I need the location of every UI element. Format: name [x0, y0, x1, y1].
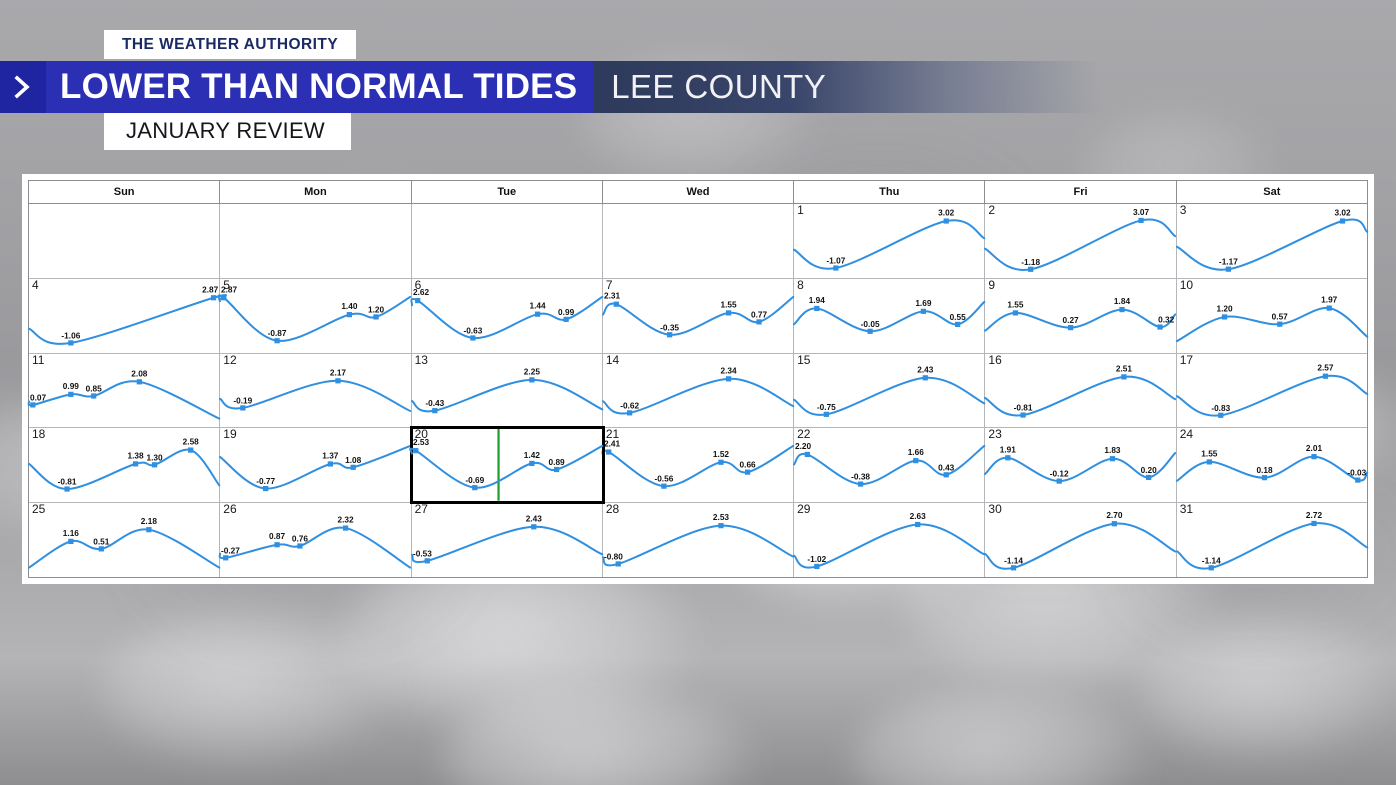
- tide-curve-line: [219, 295, 411, 341]
- tide-curve-line: [602, 446, 793, 486]
- calendar-day-cell-15[interactable]: 15-0.752.43: [794, 354, 985, 428]
- calendar-week-row: 251.160.512.1826-0.270.870.762.3227-0.53…: [29, 503, 1367, 577]
- tide-value-label: -0.56: [654, 475, 673, 484]
- page-title: LOWER THAN NORMAL TIDES: [60, 69, 577, 105]
- tide-extreme-marker: [615, 562, 620, 567]
- tide-value-label: 0.27: [1063, 316, 1080, 325]
- tide-value-label: 2.63: [910, 512, 927, 521]
- tide-extreme-marker: [805, 452, 810, 457]
- tide-extreme-marker: [1262, 475, 1267, 480]
- tide-extreme-marker: [424, 558, 429, 563]
- tide-curve-chart-day-9: 1.550.271.840.32: [985, 279, 1175, 353]
- tide-extreme-marker: [923, 375, 928, 380]
- calendar-day-cell-8[interactable]: 81.94-0.051.690.55: [794, 279, 985, 353]
- tide-extreme-marker: [833, 265, 838, 270]
- calendar-day-cell-18[interactable]: 18-0.811.381.302.58: [29, 428, 220, 502]
- tide-extreme-marker: [328, 462, 333, 467]
- tide-value-label: 0.76: [292, 535, 309, 544]
- tide-extreme-marker: [137, 379, 142, 384]
- tide-extreme-marker: [1311, 521, 1316, 526]
- tide-curve-chart-day-7: 2.31-0.351.550.77: [603, 279, 793, 353]
- day-number: 19: [223, 428, 236, 441]
- tide-value-label: 2.51: [1116, 364, 1133, 373]
- tide-value-label: -0.81: [58, 478, 77, 487]
- tide-extreme-marker: [921, 309, 926, 314]
- tide-curve-chart-day-29: -1.022.63: [794, 503, 984, 577]
- tide-extreme-marker: [68, 340, 73, 345]
- tide-value-label: 1.55: [720, 300, 737, 309]
- tide-value-label: 0.87: [269, 532, 286, 541]
- chevron-right-icon: [0, 61, 46, 113]
- tide-curve-chart-day-17: -0.832.57: [1177, 354, 1367, 428]
- tide-extreme-marker: [374, 314, 379, 319]
- tide-value-label: 2.87: [202, 285, 219, 294]
- tide-curve-chart-day-25: 1.160.512.18: [29, 503, 219, 577]
- tide-value-label: 2.17: [330, 368, 347, 377]
- calendar-grid: SunMonTueWedThuFriSat 1-1.073.022-1.183.…: [28, 180, 1368, 578]
- tide-extreme-marker: [68, 391, 73, 396]
- tide-extreme-marker: [1208, 565, 1213, 570]
- tide-extreme-marker: [529, 461, 534, 466]
- tide-value-label: 2.53: [713, 513, 730, 522]
- tide-value-label: -0.38: [851, 473, 870, 482]
- tide-extreme-marker: [614, 301, 619, 306]
- calendar-day-cell-17[interactable]: 17-0.832.57: [1177, 354, 1367, 428]
- tide-extreme-marker: [336, 378, 341, 383]
- calendar-day-cell-14[interactable]: 14-0.622.34: [603, 354, 794, 428]
- tide-value-label: -0.62: [620, 401, 639, 410]
- tide-curve-chart-day-23: 1.91-0.121.830.20: [985, 428, 1175, 502]
- tide-curve-line: [410, 446, 602, 488]
- tide-extreme-marker: [347, 312, 352, 317]
- kicker-label: THE WEATHER AUTHORITY: [104, 30, 356, 59]
- tide-value-label: -0.75: [817, 403, 836, 412]
- day-number: 1: [797, 204, 804, 217]
- tide-curve-chart-day-15: -0.752.43: [794, 354, 984, 428]
- day-number: 24: [1180, 428, 1193, 441]
- tide-value-label: 2.70: [1107, 511, 1124, 520]
- tide-value-label: 1.20: [1216, 304, 1233, 313]
- tide-extreme-marker: [627, 410, 632, 415]
- day-number: 16: [988, 354, 1001, 367]
- tide-extreme-marker: [1110, 456, 1115, 461]
- tide-extreme-marker: [152, 463, 157, 468]
- tide-curve-chart-day-8: 1.94-0.051.690.55: [794, 279, 984, 353]
- tide-value-label: 1.40: [342, 302, 359, 311]
- tide-curve-chart-day-5: 2.87-0.871.401.20: [220, 279, 410, 353]
- tide-value-label: 1.66: [908, 449, 925, 458]
- tide-curve-chart-day-16: -0.812.51: [985, 354, 1175, 428]
- tide-curve-chart-day-3: -1.173.02: [1177, 204, 1367, 278]
- tide-value-label: -0.03: [1347, 469, 1366, 478]
- tide-extreme-marker: [413, 448, 418, 453]
- tide-extreme-marker: [535, 311, 540, 316]
- tide-value-label: 1.97: [1321, 295, 1338, 304]
- tide-value-label: -0.12: [1050, 470, 1069, 479]
- tide-value-label: 2.20: [795, 442, 812, 451]
- tide-extreme-marker: [913, 458, 918, 463]
- tide-extreme-marker: [955, 322, 960, 327]
- tide-extreme-marker: [64, 487, 69, 492]
- tide-curve-chart-day-26: -0.270.870.762.32: [220, 503, 410, 577]
- tide-extreme-marker: [726, 310, 731, 315]
- tide-value-label: 2.43: [917, 365, 934, 374]
- day-number: 20: [415, 428, 428, 441]
- tide-value-label: 1.84: [1114, 297, 1131, 306]
- calendar-day-cell-5[interactable]: 52.87-0.871.401.20: [220, 279, 411, 353]
- tide-curve-chart-day-1: -1.073.02: [794, 204, 984, 278]
- tide-extreme-marker: [1120, 307, 1125, 312]
- day-number: 17: [1180, 354, 1193, 367]
- calendar-day-cell-empty: [412, 204, 603, 278]
- tide-curve-chart-day-12: -0.192.17: [220, 354, 410, 428]
- tide-value-label: 1.55: [1201, 450, 1218, 459]
- day-number: 6: [415, 279, 422, 292]
- tide-value-label: -1.02: [808, 555, 827, 564]
- tide-extreme-marker: [606, 450, 611, 455]
- tide-value-label: 0.32: [1159, 315, 1176, 324]
- tide-extreme-marker: [1013, 310, 1018, 315]
- tide-curve-chart-day-24: 1.550.182.01-0.03: [1177, 428, 1367, 502]
- calendar-day-cell-21[interactable]: 212.41-0.561.520.66: [603, 428, 794, 502]
- calendar-week-row: 110.070.990.852.0812-0.192.1713-0.432.25…: [29, 354, 1367, 429]
- tide-curve-line: [603, 526, 793, 566]
- day-number: 27: [415, 503, 428, 516]
- location-label-band: LEE COUNTY: [593, 61, 844, 113]
- day-number: 15: [797, 354, 810, 367]
- calendar-panel: SunMonTueWedThuFriSat 1-1.073.022-1.183.…: [22, 174, 1374, 584]
- calendar-day-cell-12[interactable]: 12-0.192.17: [220, 354, 411, 428]
- calendar-day-cell-23[interactable]: 231.91-0.121.830.20: [985, 428, 1176, 502]
- tide-value-label: 1.16: [63, 529, 80, 538]
- tide-curve-line: [411, 297, 602, 338]
- tide-value-label: 2.43: [525, 515, 542, 524]
- tide-curve-chart-day-19: -0.771.371.08: [220, 428, 410, 502]
- tide-value-label: -1.06: [61, 331, 80, 340]
- tide-value-label: 0.77: [751, 310, 768, 319]
- tide-value-label: 1.83: [1105, 447, 1122, 456]
- tide-value-label: 3.02: [1334, 209, 1351, 218]
- tide-value-label: 0.07: [30, 393, 47, 402]
- tide-curve-chart-day-14: -0.622.34: [603, 354, 793, 428]
- tide-extreme-marker: [99, 546, 104, 551]
- tide-extreme-marker: [1218, 412, 1223, 417]
- graphic-header: THE WEATHER AUTHORITY LOWER THAN NORMAL …: [0, 30, 1160, 150]
- tide-curve-chart-day-18: -0.811.381.302.58: [29, 428, 219, 502]
- tide-value-label: 0.43: [938, 464, 955, 473]
- tide-curve-chart-day-20: 2.53-0.691.420.89: [412, 428, 602, 502]
- tide-value-label: -0.69: [465, 477, 484, 486]
- calendar-day-header-mon: Mon: [220, 181, 411, 203]
- day-number: 7: [606, 279, 613, 292]
- tide-value-label: 1.38: [127, 452, 144, 461]
- tide-value-label: 2.32: [338, 516, 355, 525]
- tide-curve-chart-day-22: 2.20-0.381.660.43: [794, 428, 984, 502]
- tide-extreme-marker: [68, 539, 73, 544]
- calendar-day-cell-19[interactable]: 19-0.771.371.08: [220, 428, 411, 502]
- tide-value-label: -0.87: [268, 329, 287, 338]
- tide-extreme-marker: [30, 402, 35, 407]
- tide-value-label: 2.58: [183, 438, 200, 447]
- calendar-day-cell-28[interactable]: 28-0.802.53: [603, 503, 794, 577]
- tide-value-label: 1.69: [915, 299, 932, 308]
- tide-extreme-marker: [667, 332, 672, 337]
- tide-value-label: 0.99: [63, 382, 80, 391]
- tide-curve-chart-day-30: -1.142.70: [985, 503, 1175, 577]
- tide-extreme-marker: [858, 482, 863, 487]
- tide-value-label: 0.20: [1141, 466, 1158, 475]
- calendar-day-cell-16[interactable]: 16-0.812.51: [985, 354, 1176, 428]
- tide-extreme-marker: [298, 544, 303, 549]
- tide-value-label: 1.94: [809, 296, 826, 305]
- tide-curve-chart-day-6: 2.62-0.631.440.99: [412, 279, 602, 353]
- tide-value-label: 3.02: [938, 209, 955, 218]
- subtitle-label: JANUARY REVIEW: [104, 113, 351, 150]
- tide-value-label: -0.19: [234, 396, 253, 405]
- day-number: 29: [797, 503, 810, 516]
- day-number: 30: [988, 503, 1001, 516]
- day-number: 11: [32, 354, 44, 367]
- tide-value-label: 1.91: [1000, 446, 1017, 455]
- tide-extreme-marker: [91, 393, 96, 398]
- tide-value-label: 1.55: [1008, 300, 1025, 309]
- tide-extreme-marker: [1028, 267, 1033, 272]
- tide-extreme-marker: [824, 411, 829, 416]
- tide-extreme-marker: [188, 448, 193, 453]
- tide-extreme-marker: [263, 486, 268, 491]
- tide-value-label: -1.07: [827, 257, 846, 266]
- tide-value-label: 1.42: [523, 451, 540, 460]
- calendar-day-header-tue: Tue: [412, 181, 603, 203]
- calendar-day-cell-26[interactable]: 26-0.270.870.762.32: [220, 503, 411, 577]
- calendar-day-header-fri: Fri: [985, 181, 1176, 203]
- tide-value-label: 3.07: [1133, 208, 1150, 217]
- calendar-day-cell-24[interactable]: 241.550.182.01-0.03: [1177, 428, 1367, 502]
- day-number: 9: [988, 279, 995, 292]
- calendar-day-cell-13[interactable]: 13-0.432.25: [412, 354, 603, 428]
- tide-value-label: 0.57: [1271, 313, 1288, 322]
- tide-value-label: 1.30: [147, 454, 164, 463]
- tide-extreme-marker: [1057, 479, 1062, 484]
- tide-value-label: 0.51: [93, 538, 110, 547]
- tide-value-label: 1.52: [713, 450, 730, 459]
- day-number: 3: [1180, 204, 1187, 217]
- tide-extreme-marker: [529, 377, 534, 382]
- tide-value-label: 0.89: [548, 458, 565, 467]
- day-number: 5: [223, 279, 230, 292]
- calendar-day-cell-10[interactable]: 101.200.571.97: [1177, 279, 1367, 353]
- tide-extreme-marker: [1355, 478, 1360, 483]
- tide-extreme-marker: [1206, 460, 1211, 465]
- tide-value-label: 0.85: [86, 384, 103, 393]
- tide-extreme-marker: [221, 295, 226, 300]
- tide-curve-line: [220, 446, 410, 489]
- tide-value-label: 1.44: [529, 302, 546, 311]
- tide-value-label: 2.34: [720, 366, 737, 375]
- tide-extreme-marker: [240, 405, 245, 410]
- tide-extreme-marker: [554, 467, 559, 472]
- calendar-day-cell-9[interactable]: 91.550.271.840.32: [985, 279, 1176, 353]
- day-number: 22: [797, 428, 810, 441]
- tide-extreme-marker: [1340, 218, 1345, 223]
- tide-extreme-marker: [944, 473, 949, 478]
- tide-extreme-marker: [415, 298, 420, 303]
- calendar-day-cell-30[interactable]: 30-1.142.70: [985, 503, 1176, 577]
- tide-extreme-marker: [1311, 454, 1316, 459]
- tide-value-label: -0.53: [413, 550, 432, 559]
- calendar-day-cell-empty: [29, 204, 220, 278]
- tide-curve-chart-day-21: 2.41-0.561.520.66: [603, 428, 793, 502]
- tide-curve-chart-day-4: -1.062.87: [29, 279, 219, 353]
- tide-extreme-marker: [563, 317, 568, 322]
- tide-curve-chart-day-13: -0.432.25: [412, 354, 602, 428]
- tide-extreme-marker: [814, 306, 819, 311]
- tide-extreme-marker: [1277, 321, 1282, 326]
- tide-curve-chart-day-31: -1.142.72: [1177, 503, 1367, 577]
- day-number: 26: [223, 503, 236, 516]
- tide-extreme-marker: [1322, 373, 1327, 378]
- tide-value-label: 0.55: [950, 313, 967, 322]
- tide-value-label: 0.18: [1256, 467, 1273, 476]
- day-number: 31: [1180, 503, 1193, 516]
- calendar-day-cell-20[interactable]: 202.53-0.691.420.89: [412, 428, 603, 502]
- tide-value-label: 2.57: [1317, 363, 1334, 372]
- calendar-day-cell-3[interactable]: 3-1.173.02: [1177, 204, 1367, 278]
- tide-curve-line: [794, 446, 984, 484]
- tide-extreme-marker: [343, 526, 348, 531]
- day-number: 13: [415, 354, 428, 367]
- calendar-day-cell-empty: [603, 204, 794, 278]
- tide-extreme-marker: [944, 218, 949, 223]
- tide-extreme-marker: [133, 462, 138, 467]
- tide-extreme-marker: [661, 484, 666, 489]
- tide-extreme-marker: [275, 338, 280, 343]
- day-number: 12: [223, 354, 236, 367]
- calendar-day-header-sun: Sun: [29, 181, 220, 203]
- tide-curve-line: [985, 219, 1175, 270]
- tide-extreme-marker: [1326, 305, 1331, 310]
- calendar-day-cell-empty: [220, 204, 411, 278]
- tide-curve-line: [29, 381, 220, 418]
- tide-value-label: 1.37: [323, 452, 340, 461]
- tide-value-label: -0.05: [861, 320, 880, 329]
- day-number: 2: [988, 204, 995, 217]
- calendar-day-cell-29[interactable]: 29-1.022.63: [794, 503, 985, 577]
- tide-extreme-marker: [432, 408, 437, 413]
- calendar-day-cell-1[interactable]: 1-1.073.02: [794, 204, 985, 278]
- tide-value-label: -0.77: [257, 478, 276, 487]
- calendar-day-cell-11[interactable]: 110.070.990.852.08: [29, 354, 220, 428]
- tide-extreme-marker: [756, 319, 761, 324]
- tide-curve-chart-day-28: -0.802.53: [603, 503, 793, 577]
- calendar-day-header-sat: Sat: [1177, 181, 1367, 203]
- calendar-week-row: 18-0.811.381.302.5819-0.771.371.08202.53…: [29, 428, 1367, 503]
- tide-extreme-marker: [472, 485, 477, 490]
- calendar-week-row: 4-1.062.8752.87-0.871.401.2062.62-0.631.…: [29, 279, 1367, 354]
- calendar-day-header-wed: Wed: [603, 181, 794, 203]
- day-number: 25: [32, 503, 45, 516]
- tide-curve-line: [29, 295, 226, 344]
- headline-band: LOWER THAN NORMAL TIDES: [46, 61, 593, 113]
- day-number: 18: [32, 428, 45, 441]
- calendar-week-row: 1-1.073.022-1.183.073-1.173.02: [29, 204, 1367, 279]
- tide-curve-chart-day-11: 0.070.990.852.08: [29, 354, 219, 428]
- tide-extreme-marker: [211, 295, 216, 300]
- tide-value-label: 2.18: [141, 517, 158, 526]
- tide-curve-line: [1177, 220, 1367, 270]
- tide-value-label: 2.31: [604, 292, 621, 301]
- tide-curve-line: [794, 220, 984, 269]
- day-number: 23: [988, 428, 1001, 441]
- tide-extreme-marker: [726, 376, 731, 381]
- tide-value-label: 0.99: [558, 308, 575, 317]
- tide-value-label: 2.08: [131, 369, 148, 378]
- tide-value-label: -0.35: [660, 323, 679, 332]
- tide-extreme-marker: [223, 555, 228, 560]
- tide-value-label: 2.72: [1306, 511, 1323, 520]
- tide-value-label: -0.80: [604, 553, 623, 562]
- tide-extreme-marker: [1139, 218, 1144, 223]
- tide-extreme-marker: [1158, 324, 1163, 329]
- title-bar: LOWER THAN NORMAL TIDES LEE COUNTY: [0, 61, 1100, 113]
- tide-extreme-marker: [275, 542, 280, 547]
- tide-extreme-marker: [531, 524, 536, 529]
- calendar-weeks: 1-1.073.022-1.183.073-1.173.024-1.062.87…: [29, 204, 1367, 577]
- tide-value-label: -0.83: [1211, 403, 1230, 412]
- day-number: 14: [606, 354, 619, 367]
- tide-curve-line: [220, 528, 411, 568]
- tide-value-label: 0.66: [739, 461, 756, 470]
- tide-value-label: -1.14: [1005, 557, 1024, 566]
- tide-extreme-marker: [351, 465, 356, 470]
- calendar-day-cell-7[interactable]: 72.31-0.351.550.77: [603, 279, 794, 353]
- day-number: 28: [606, 503, 619, 516]
- tide-extreme-marker: [470, 335, 475, 340]
- tide-extreme-marker: [718, 523, 723, 528]
- calendar-day-cell-4[interactable]: 4-1.062.87: [29, 279, 220, 353]
- tide-extreme-marker: [915, 522, 920, 527]
- calendar-day-cell-25[interactable]: 251.160.512.18: [29, 503, 220, 577]
- tide-value-label: -0.81: [1014, 403, 1033, 412]
- tide-extreme-marker: [1122, 374, 1127, 379]
- tide-value-label: 1.08: [345, 456, 362, 465]
- tide-value-label: -0.27: [221, 547, 240, 556]
- day-number: 8: [797, 279, 804, 292]
- tide-extreme-marker: [718, 460, 723, 465]
- tide-value-label: -1.18: [1022, 258, 1041, 267]
- tide-curve-line: [1177, 375, 1367, 415]
- tide-curve-chart-day-10: 1.200.571.97: [1177, 279, 1367, 353]
- calendar-day-header-row: SunMonTueWedThuFriSat: [29, 181, 1367, 204]
- tide-value-label: -0.43: [425, 399, 444, 408]
- tide-value-label: 2.01: [1306, 445, 1323, 454]
- tide-curve-chart-day-2: -1.183.07: [985, 204, 1175, 278]
- calendar-day-cell-27[interactable]: 27-0.532.43: [412, 503, 603, 577]
- calendar-day-cell-6[interactable]: 62.62-0.631.440.99: [412, 279, 603, 353]
- calendar-day-header-thu: Thu: [794, 181, 985, 203]
- tide-extreme-marker: [1112, 521, 1117, 526]
- calendar-day-cell-31[interactable]: 31-1.142.72: [1177, 503, 1367, 577]
- day-number: 10: [1180, 279, 1193, 292]
- calendar-day-cell-2[interactable]: 2-1.183.07: [985, 204, 1176, 278]
- tide-curve-line: [412, 527, 602, 562]
- tide-extreme-marker: [814, 564, 819, 569]
- tide-extreme-marker: [868, 329, 873, 334]
- tide-curve-chart-day-27: -0.532.43: [412, 503, 602, 577]
- tide-extreme-marker: [1006, 456, 1011, 461]
- tide-value-label: 1.20: [368, 305, 385, 314]
- calendar-day-cell-22[interactable]: 222.20-0.381.660.43: [794, 428, 985, 502]
